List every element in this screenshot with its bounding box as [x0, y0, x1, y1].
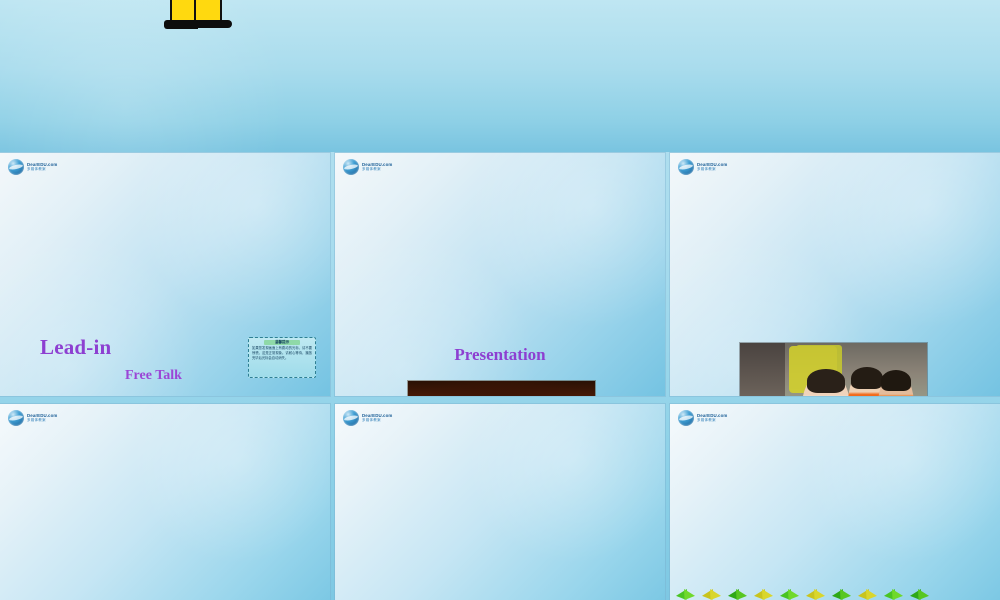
- top-banner: [0, 0, 1000, 152]
- leaf-icon: [728, 588, 748, 600]
- logo-sub-text: 多媒体教案: [697, 168, 727, 171]
- leaf-icon: [858, 588, 878, 600]
- globe-icon: [678, 410, 694, 426]
- banner-light-orb: [0, 0, 290, 152]
- leaf-icon: [780, 588, 800, 600]
- leaf-icon: [832, 588, 852, 600]
- cartoon-person-figure: [160, 0, 232, 40]
- slide-thumbnail-grid: DearEDU.com 多媒体教案 Lead-in Free Talk If s…: [0, 153, 1000, 600]
- slide-lead-in[interactable]: DearEDU.com 多媒体教案 Lead-in Free Talk If s…: [0, 153, 330, 396]
- dearedu-logo: DearEDU.com 多媒体教案: [343, 410, 392, 426]
- dearedu-logo: DearEDU.com 多媒体教案: [343, 159, 392, 175]
- dearedu-logo: DearEDU.com 多媒体教案: [678, 159, 727, 175]
- globe-icon: [8, 159, 24, 175]
- photo-girl: [802, 374, 851, 396]
- tip-note-box: 温馨提示 如果您发现画面上有跳动的光标，请不要惊慌，这是正常现象。请耐心等待，播…: [248, 337, 316, 378]
- fire-photo: [408, 381, 595, 396]
- slide-presentation[interactable]: DearEDU.com 多媒体教案 Presentation fire: [335, 153, 665, 396]
- children-donation-photo: [740, 343, 927, 396]
- leaf-icon: [806, 588, 826, 600]
- globe-icon: [8, 410, 24, 426]
- figure-shoe-right: [196, 20, 232, 28]
- slide-title-lead-in: Lead-in: [40, 335, 111, 360]
- leaf-decoration-strip: [670, 578, 1000, 600]
- slide-raise-money[interactable]: DearEDU.com 多媒体教案 raise money: [670, 153, 1000, 396]
- tip-note-header: 温馨提示: [264, 340, 300, 345]
- globe-icon: [343, 159, 359, 175]
- dearedu-logo: DearEDU.com 多媒体教案: [8, 159, 57, 175]
- logo-sub-text: 多媒体教案: [27, 168, 57, 171]
- logo-sub-text: 多媒体教案: [697, 419, 727, 422]
- logo-sub-text: 多媒体教案: [362, 419, 392, 422]
- dearedu-logo: DearEDU.com 多媒体教案: [8, 410, 57, 426]
- photo-boy-right: [878, 374, 914, 396]
- tip-note-body: 如果您发现画面上有跳动的光标，请不要惊慌，这是正常现象。请耐心等待，播放完毕后光…: [252, 346, 312, 361]
- leaf-icon: [910, 588, 930, 600]
- slide-language-points[interactable]: DearEDU.com 多媒体教案 Language Points 1. On …: [335, 404, 665, 600]
- globe-icon: [343, 410, 359, 426]
- leaf-icon: [884, 588, 904, 600]
- leaf-icon: [676, 588, 696, 600]
- slide-listen-fill[interactable]: DearEDU.com 多媒体教案 Listen and fill in the…: [0, 404, 330, 600]
- leaf-icon: [754, 588, 774, 600]
- photo-background-left: [740, 343, 785, 396]
- figure-shoe-left: [164, 20, 198, 29]
- logo-sub-text: 多媒体教案: [362, 168, 392, 171]
- slide-subtitle-free-talk: Free Talk: [125, 368, 182, 384]
- slide-title-presentation: Presentation: [335, 345, 665, 365]
- globe-icon: [678, 159, 694, 175]
- logo-sub-text: 多媒体教案: [27, 419, 57, 422]
- leaf-icon: [702, 588, 722, 600]
- dearedu-logo: DearEDU.com 多媒体教案: [678, 410, 727, 426]
- slide-happen-notes[interactable]: DearEDU.com 多媒体教案 3） happen ， 发生，一般指意外发生…: [670, 404, 1000, 600]
